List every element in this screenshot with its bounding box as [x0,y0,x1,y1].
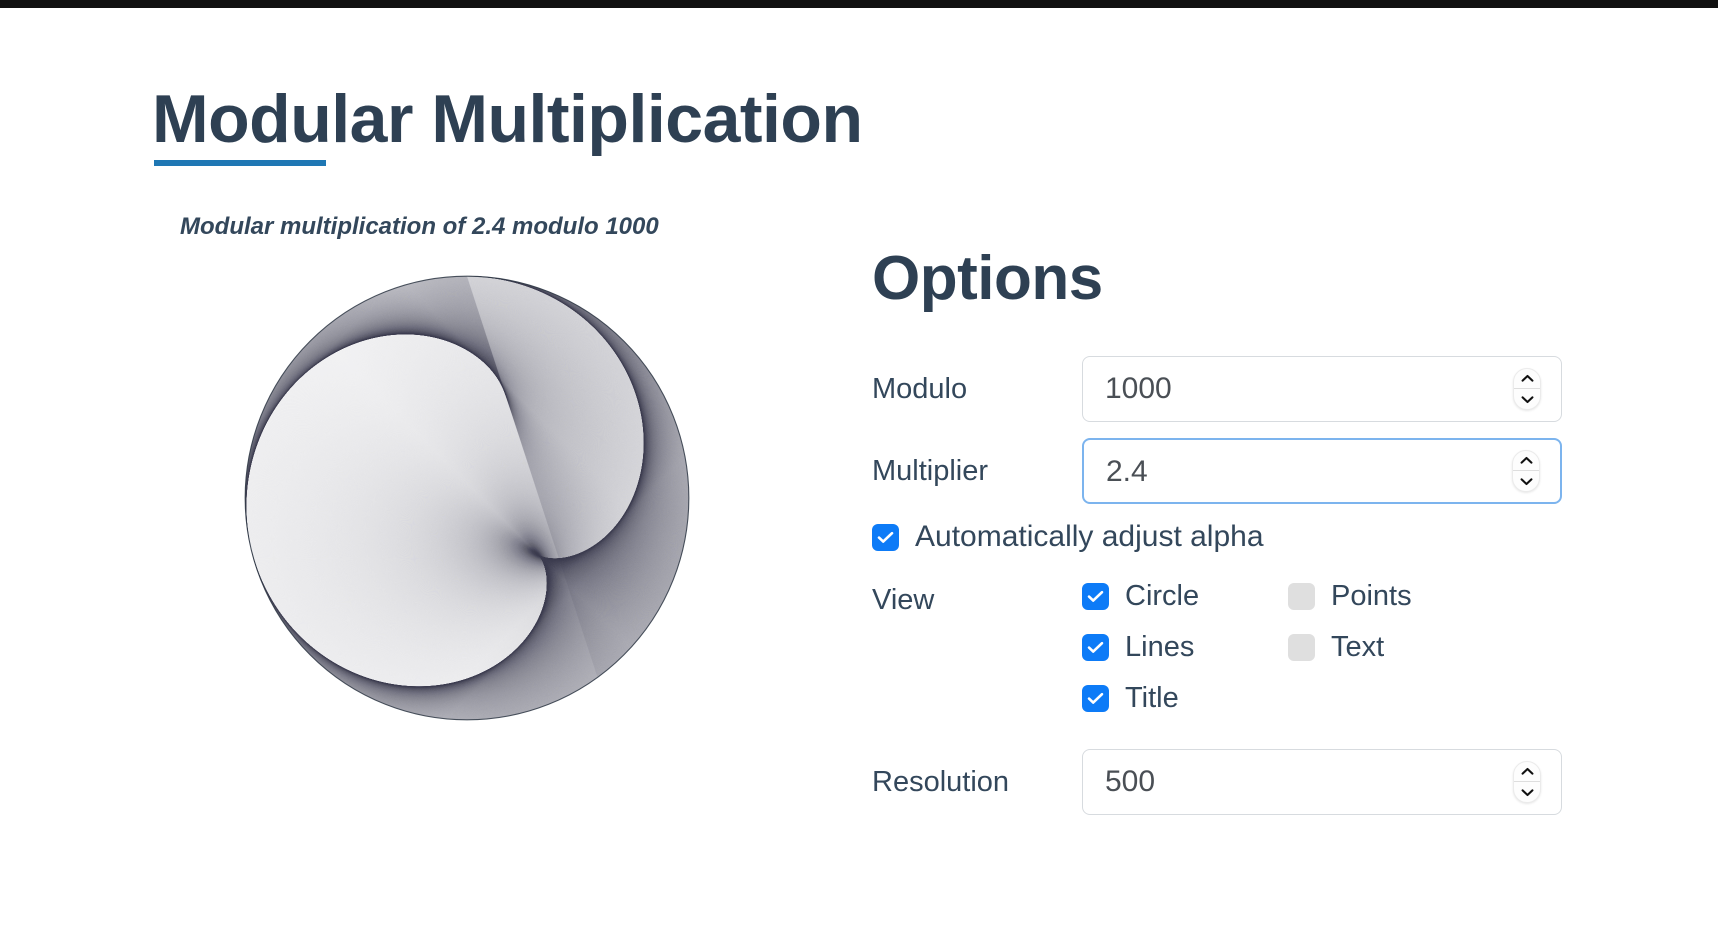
chevron-down-icon[interactable] [1513,471,1539,491]
visualization-panel: Modular multiplication of 2.4 modulo 100… [152,205,772,765]
options-heading: Options [872,248,1572,310]
multiplier-value: 2.4 [1106,440,1148,504]
resolution-value: 500 [1105,750,1155,814]
view-item-lines[interactable]: Lines [1082,631,1252,664]
auto-alpha-label: Automatically adjust alpha [915,520,1264,554]
view-checkbox-grid: Circle Points Lines [1082,580,1412,715]
points-checkbox[interactable] [1288,583,1315,610]
view-item-points[interactable]: Points [1288,580,1412,613]
page-title: Modular Multiplication [152,84,863,155]
title-checkbox[interactable] [1082,685,1109,712]
title-label: Title [1125,682,1179,715]
multiplier-label: Multiplier [872,455,1082,488]
view-label: View [872,580,1082,617]
chevron-up-icon[interactable] [1513,451,1539,471]
title-accent-rule [154,160,326,166]
multiplier-stepper[interactable] [1512,450,1540,492]
multiplier-row: Multiplier 2.4 [872,438,1572,504]
view-item-circle[interactable]: Circle [1082,580,1252,613]
circle-label: Circle [1125,580,1199,613]
view-row: View Circle Points [872,580,1572,715]
modulo-value: 1000 [1105,357,1172,421]
resolution-label: Resolution [872,766,1082,799]
chevron-down-icon[interactable] [1514,782,1540,802]
modulo-input[interactable]: 1000 [1082,356,1562,422]
chevron-down-icon[interactable] [1514,389,1540,409]
view-item-text[interactable]: Text [1288,631,1384,664]
browser-top-bar [0,0,1718,8]
view-line-2: Lines Text [1082,631,1412,664]
modulo-stepper[interactable] [1513,368,1541,410]
chevron-up-icon[interactable] [1514,762,1540,782]
resolution-stepper[interactable] [1513,761,1541,803]
options-panel: Options Modulo 1000 Multiplier 2.4 [872,248,1572,908]
multiplier-input[interactable]: 2.4 [1082,438,1562,504]
figure-caption: Modular multiplication of 2.4 modulo 100… [180,213,659,241]
circle-checkbox[interactable] [1082,583,1109,610]
points-label: Points [1331,580,1412,613]
view-line-3: Title [1082,682,1412,715]
auto-alpha-checkbox[interactable] [872,524,899,551]
text-checkbox[interactable] [1288,634,1315,661]
chevron-up-icon[interactable] [1514,369,1540,389]
lines-label: Lines [1125,631,1194,664]
lines-checkbox[interactable] [1082,634,1109,661]
modular-multiplication-canvas [232,263,702,733]
resolution-row: Resolution 500 [872,749,1572,815]
resolution-input[interactable]: 500 [1082,749,1562,815]
app-root: Modular Multiplication Modular multiplic… [0,0,1718,940]
view-line-1: Circle Points [1082,580,1412,613]
modular-multiplication-figure [232,263,702,733]
text-label: Text [1331,631,1384,664]
modulo-row: Modulo 1000 [872,356,1572,422]
view-item-title[interactable]: Title [1082,682,1252,715]
auto-alpha-row[interactable]: Automatically adjust alpha [872,520,1572,554]
modulo-label: Modulo [872,373,1082,406]
